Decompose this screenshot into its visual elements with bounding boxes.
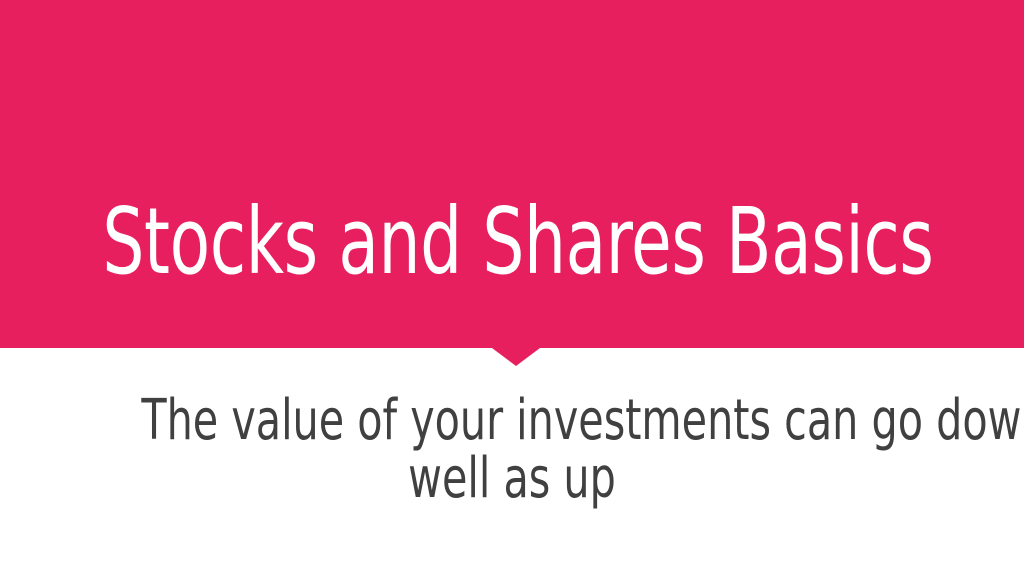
slide-subtitle: The value of your investments can go dow… [0, 392, 1024, 508]
subtitle-line-1: The value of your investments can go dow… [141, 392, 882, 450]
banner-notch-triangle-icon [492, 348, 540, 366]
presentation-slide: Stocks and Shares Basics The value of yo… [0, 0, 1024, 576]
slide-title: Stocks and Shares Basics [102, 196, 921, 288]
subtitle-line-2: well as up [141, 450, 882, 508]
title-banner: Stocks and Shares Basics [0, 0, 1024, 348]
